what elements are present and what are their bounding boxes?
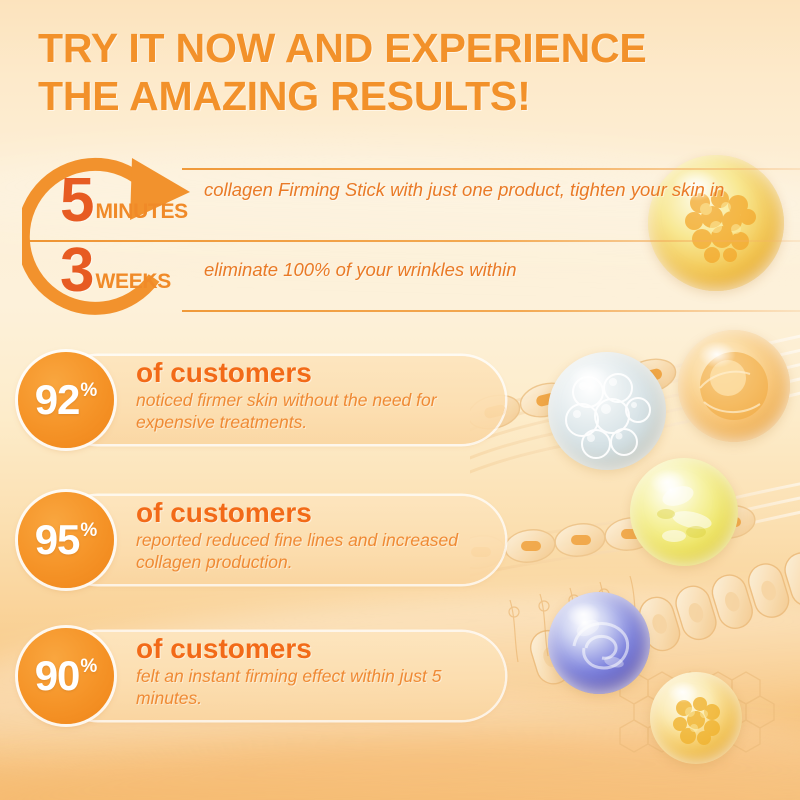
stat-title: of customers bbox=[136, 634, 506, 664]
stat-percent-badge: 92 % bbox=[18, 352, 114, 448]
stat-row: 90 % of customers felt an instant firmin… bbox=[18, 628, 505, 724]
weeks-unit: WEEKS bbox=[95, 273, 171, 298]
timing-cycle-block: 5 MINUTES 3 WEEKS collagen Firming Stick… bbox=[22, 152, 782, 332]
stat-percent-number: 95 bbox=[35, 519, 80, 561]
skin-tissue-illustration bbox=[470, 300, 800, 800]
cell-chain-lower bbox=[470, 503, 757, 572]
promo-poster: TRY IT NOW AND EXPERIENCE THE AMAZING RE… bbox=[0, 0, 800, 800]
epidermal-cell-layer bbox=[526, 549, 800, 688]
weeks-number: 3 bbox=[60, 244, 94, 299]
stat-percent-badge: 95 % bbox=[18, 492, 114, 588]
divider-line-bottom bbox=[182, 310, 800, 312]
stat-description: reported reduced fine lines and increase… bbox=[136, 530, 506, 573]
minutes-number: 5 bbox=[60, 174, 94, 229]
stat-percent-number: 90 bbox=[35, 655, 80, 697]
amber-sphere-icon bbox=[678, 330, 790, 442]
minutes-description: collagen Firming Stick with just one pro… bbox=[204, 178, 724, 202]
stat-title: of customers bbox=[136, 498, 506, 528]
minutes-unit: MINUTES bbox=[95, 203, 187, 228]
weeks-description: eliminate 100% of your wrinkles within bbox=[204, 258, 517, 282]
stat-row: 95 % of customers reported reduced fine … bbox=[18, 492, 505, 588]
stat-percent-badge: 90 % bbox=[18, 628, 114, 724]
stat-percent-number: 92 bbox=[35, 379, 80, 421]
stat-percent-symbol: % bbox=[80, 521, 97, 540]
stat-percent-symbol: % bbox=[80, 381, 97, 400]
divider-line-top bbox=[182, 168, 800, 170]
stat-description: felt an instant firming effect within ju… bbox=[136, 666, 506, 709]
headline-line-2: THE AMAZING RESULTS! bbox=[38, 72, 738, 120]
background-wave-3 bbox=[0, 722, 800, 800]
silver-bubble-sphere-icon bbox=[548, 352, 666, 470]
stat-title: of customers bbox=[136, 358, 506, 388]
stat-percent-symbol: % bbox=[80, 657, 97, 676]
stat-description: noticed firmer skin without the need for… bbox=[136, 390, 506, 433]
minutes-value-group: 5 MINUTES bbox=[60, 174, 188, 229]
yellow-serum-sphere-icon bbox=[630, 458, 738, 566]
headline-line-1: TRY IT NOW AND EXPERIENCE bbox=[38, 24, 738, 72]
headline: TRY IT NOW AND EXPERIENCE THE AMAZING RE… bbox=[38, 24, 738, 121]
collagen-fibrils bbox=[509, 576, 638, 662]
weeks-value-group: 3 WEEKS bbox=[60, 244, 171, 299]
blue-swirl-sphere-icon bbox=[548, 592, 650, 694]
stat-row: 92 % of customers noticed firmer skin wi… bbox=[18, 352, 505, 448]
honeycomb-mesh bbox=[620, 672, 774, 752]
gold-honeycomb-sphere-icon bbox=[650, 672, 742, 764]
